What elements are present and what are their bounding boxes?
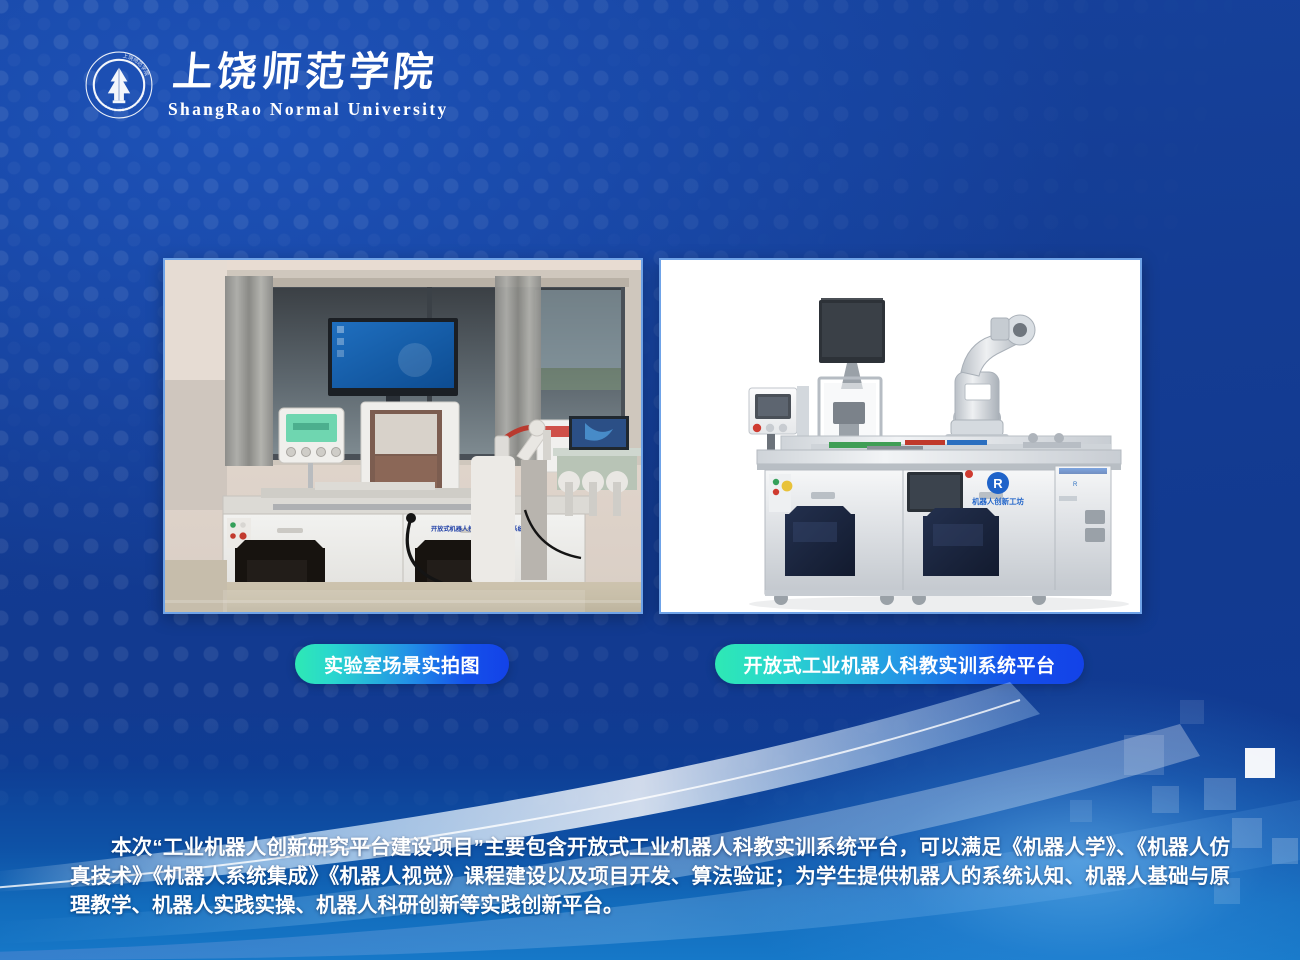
decor-square-bright	[1245, 748, 1275, 778]
university-seal-icon: 上饶师范学院 SHANGRAO NORMAL COLLEGE	[84, 50, 154, 120]
decor-square	[1180, 700, 1204, 724]
description-paragraph: 本次“工业机器人创新研究平台建设项目”主要包含开放式工业机器人科教实训系统平台，…	[70, 833, 1230, 920]
decor-square	[1152, 786, 1179, 813]
university-logo-text: 上饶师范学院 ShangRao Normal University	[168, 50, 488, 120]
lab-scene-photo: 开放式机器人控制和视觉科教系统	[165, 260, 641, 612]
decor-square	[1204, 778, 1236, 810]
photo-row: 开放式机器人控制和视觉科教系统	[0, 258, 1300, 610]
photo-card-training-platform[interactable]: R 机器人创新工坊 R	[659, 258, 1142, 614]
university-logo: 上饶师范学院 SHANGRAO NORMAL COLLEGE 上饶师范学院 Sh…	[84, 50, 488, 120]
training-platform-photo: R 机器人创新工坊 R	[661, 260, 1140, 612]
university-name-cn: 上饶师范学院	[168, 50, 488, 96]
decor-square	[1232, 818, 1262, 848]
svg-text:R: R	[1073, 482, 1078, 488]
caption-pill-training-platform[interactable]: 开放式工业机器人科教实训系统平台	[715, 644, 1084, 684]
svg-text:上饶师范学院: 上饶师范学院	[171, 50, 439, 94]
decor-square	[1272, 838, 1298, 864]
caption-row: 实验室场景实拍图 开放式工业机器人科教实训系统平台	[0, 644, 1300, 684]
caption-pill-training-platform-label: 开放式工业机器人科教实训系统平台	[743, 651, 1055, 678]
svg-text:上饶师范学院: 上饶师范学院	[122, 51, 151, 77]
slide-canvas: 上饶师范学院 SHANGRAO NORMAL COLLEGE 上饶师范学院 Sh…	[0, 0, 1300, 960]
brand-letter: R	[993, 476, 1003, 491]
brand-name: 机器人创新工坊	[972, 497, 1024, 506]
caption-pill-lab-scene-label: 实验室场景实拍图	[324, 651, 480, 678]
caption-pill-lab-scene[interactable]: 实验室场景实拍图	[295, 644, 509, 684]
photo-card-lab-scene[interactable]: 开放式机器人控制和视觉科教系统	[163, 258, 643, 614]
university-name-en: ShangRao Normal University	[168, 99, 488, 120]
decor-square	[1124, 735, 1164, 775]
decor-square	[1070, 800, 1092, 822]
